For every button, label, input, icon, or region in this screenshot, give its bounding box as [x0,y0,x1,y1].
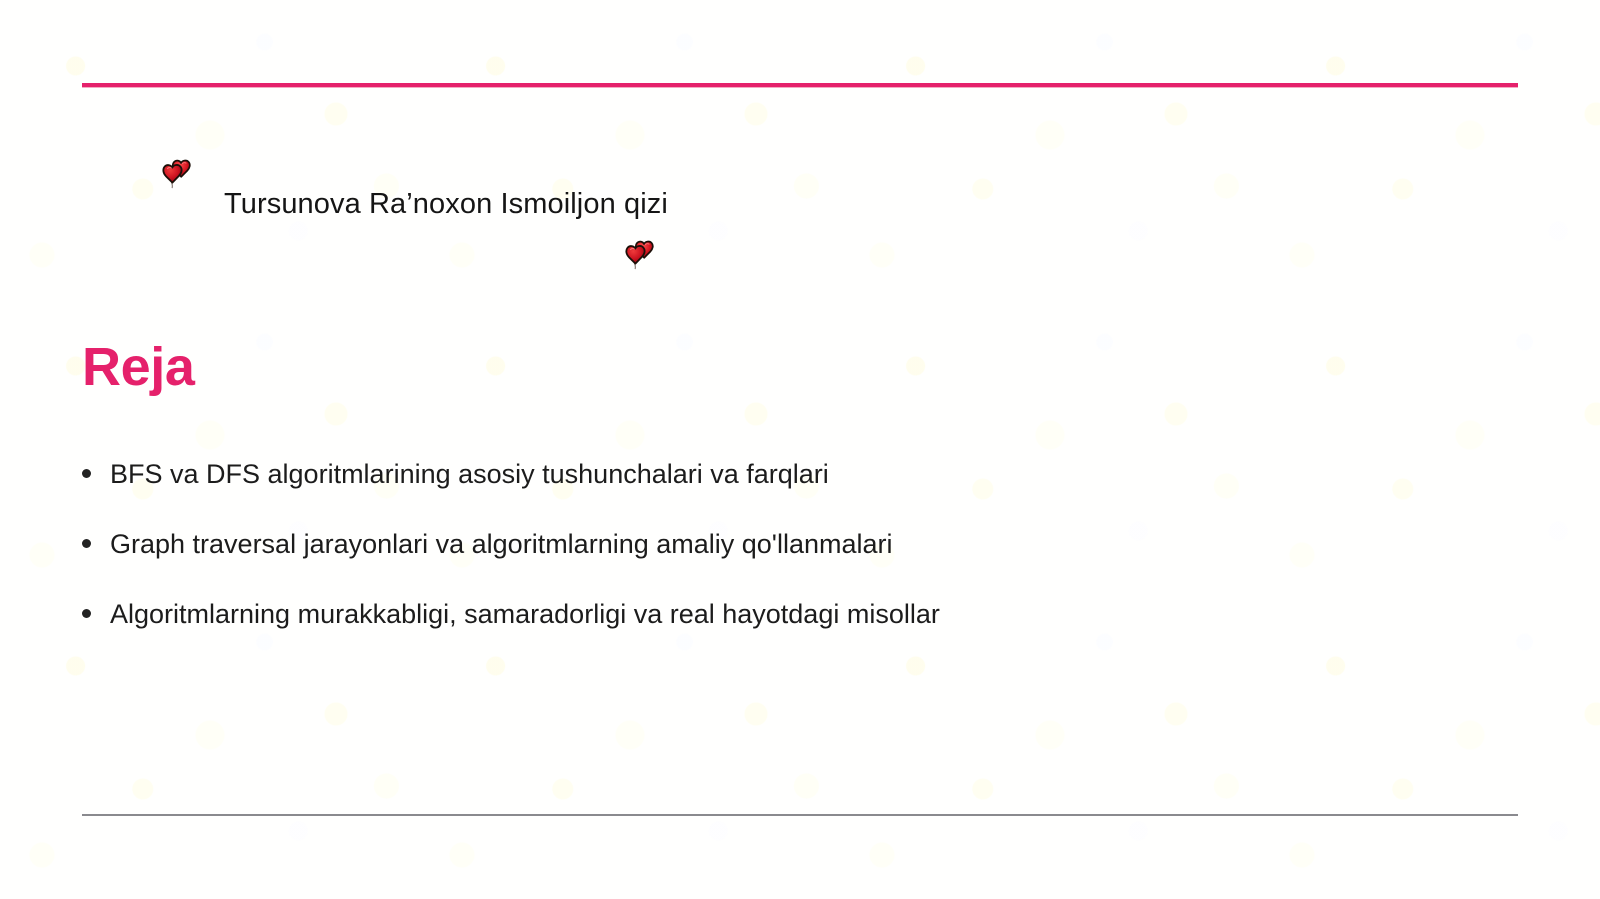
two-hearts-icon [162,157,196,189]
agenda-list: BFS va DFS algoritmlarining asosiy tushu… [78,458,1378,668]
bottom-rule [82,814,1518,816]
background-texture [0,0,1600,899]
two-hearts-icon [625,238,659,270]
list-item: Graph traversal jarayonlari va algoritml… [78,528,1378,598]
top-accent-rule [82,83,1518,87]
page-title: Reja [82,336,194,398]
presenter-name: Tursunova Ra’noxon Ismoiljon qizi [224,188,668,221]
list-item: BFS va DFS algoritmlarining asosiy tushu… [78,458,1378,528]
list-item-label: BFS va DFS algoritmlarining asosiy tushu… [110,458,829,490]
bullet-point-icon [82,539,91,548]
list-item-label: Graph traversal jarayonlari va algoritml… [110,528,893,560]
list-item-label: Algoritmlarning murakkabligi, samaradorl… [110,598,940,630]
presentation-slide: Tursunova Ra’noxon Ismoiljon qizi Reja B… [0,0,1600,899]
bullet-point-icon [82,609,91,618]
list-item: Algoritmlarning murakkabligi, samaradorl… [78,598,1378,668]
bullet-point-icon [82,469,91,478]
